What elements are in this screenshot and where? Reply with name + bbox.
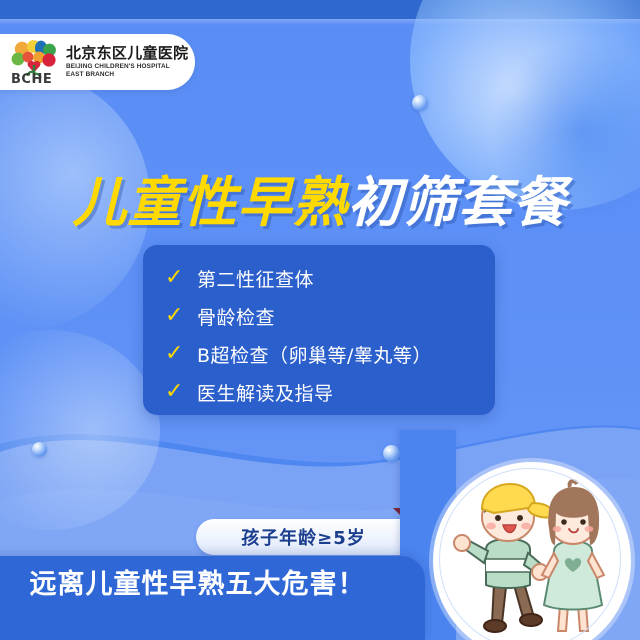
hospital-logo-pill: BCHE 北京东区儿童医院 BEIJING CHILDREN'S HOSPITA…	[0, 34, 195, 90]
two-children-illustration	[433, 462, 631, 640]
check-mark-icon: ✓	[165, 266, 187, 288]
checklist-item-label: 第二性征查体	[197, 265, 314, 292]
boy-with-yellow-cap	[454, 484, 552, 632]
children-artwork	[436, 465, 628, 640]
check-mark-icon: ✓	[165, 380, 187, 402]
decorative-bubble	[383, 445, 400, 462]
checklist-item: ✓ 骨龄检查	[165, 297, 495, 335]
bottom-banner-label: 远离儿童性早熟五大危害！	[30, 562, 366, 601]
age-requirement-label: 孩子年龄≥5岁	[241, 524, 366, 550]
check-mark-icon: ✓	[165, 304, 187, 326]
checklist-item: ✓ 医生解读及指导	[165, 373, 495, 411]
poster-title: 儿童性早熟初筛套餐	[0, 158, 640, 237]
hospital-tree-logo-icon: BCHE	[10, 39, 60, 85]
hospital-name-en-line2: EAST BRANCH	[66, 72, 188, 78]
checklist-item-label: B超检查（卵巢等/睾丸等）	[197, 341, 432, 368]
hospital-name-cn: 北京东区儿童医院	[66, 46, 188, 61]
checklist-item: ✓ 第二性征查体	[165, 259, 495, 297]
svg-text:BCHE: BCHE	[11, 72, 52, 85]
check-mark-icon: ✓	[165, 342, 187, 364]
girl-in-green-dress	[542, 481, 604, 631]
age-requirement-ribbon: 孩子年龄≥5岁	[196, 519, 411, 555]
decorative-bubble	[32, 442, 47, 457]
hospital-name-block: 北京东区儿童医院 BEIJING CHILDREN'S HOSPITAL EAS…	[66, 46, 188, 79]
title-highlight: 儿童性早熟	[73, 171, 348, 234]
checklist-item: ✓ B超检查（卵巢等/睾丸等）	[165, 335, 495, 373]
checklist-item-label: 骨龄检查	[197, 303, 275, 330]
checklist-item-label: 医生解读及指导	[197, 379, 334, 406]
decorative-bubble	[412, 95, 428, 111]
checklist-card: ✓ 第二性征查体 ✓ 骨龄检查 ✓ B超检查（卵巢等/睾丸等） ✓ 医生解读及指…	[143, 245, 495, 415]
poster-root: BCHE 北京东区儿童医院 BEIJING CHILDREN'S HOSPITA…	[0, 0, 640, 640]
hospital-name-en-line1: BEIJING CHILDREN'S HOSPITAL	[66, 64, 188, 70]
title-rest: 初筛套餐	[348, 171, 568, 234]
bottom-banner-label-wrap: 远离儿童性早熟五大危害！	[0, 556, 425, 606]
